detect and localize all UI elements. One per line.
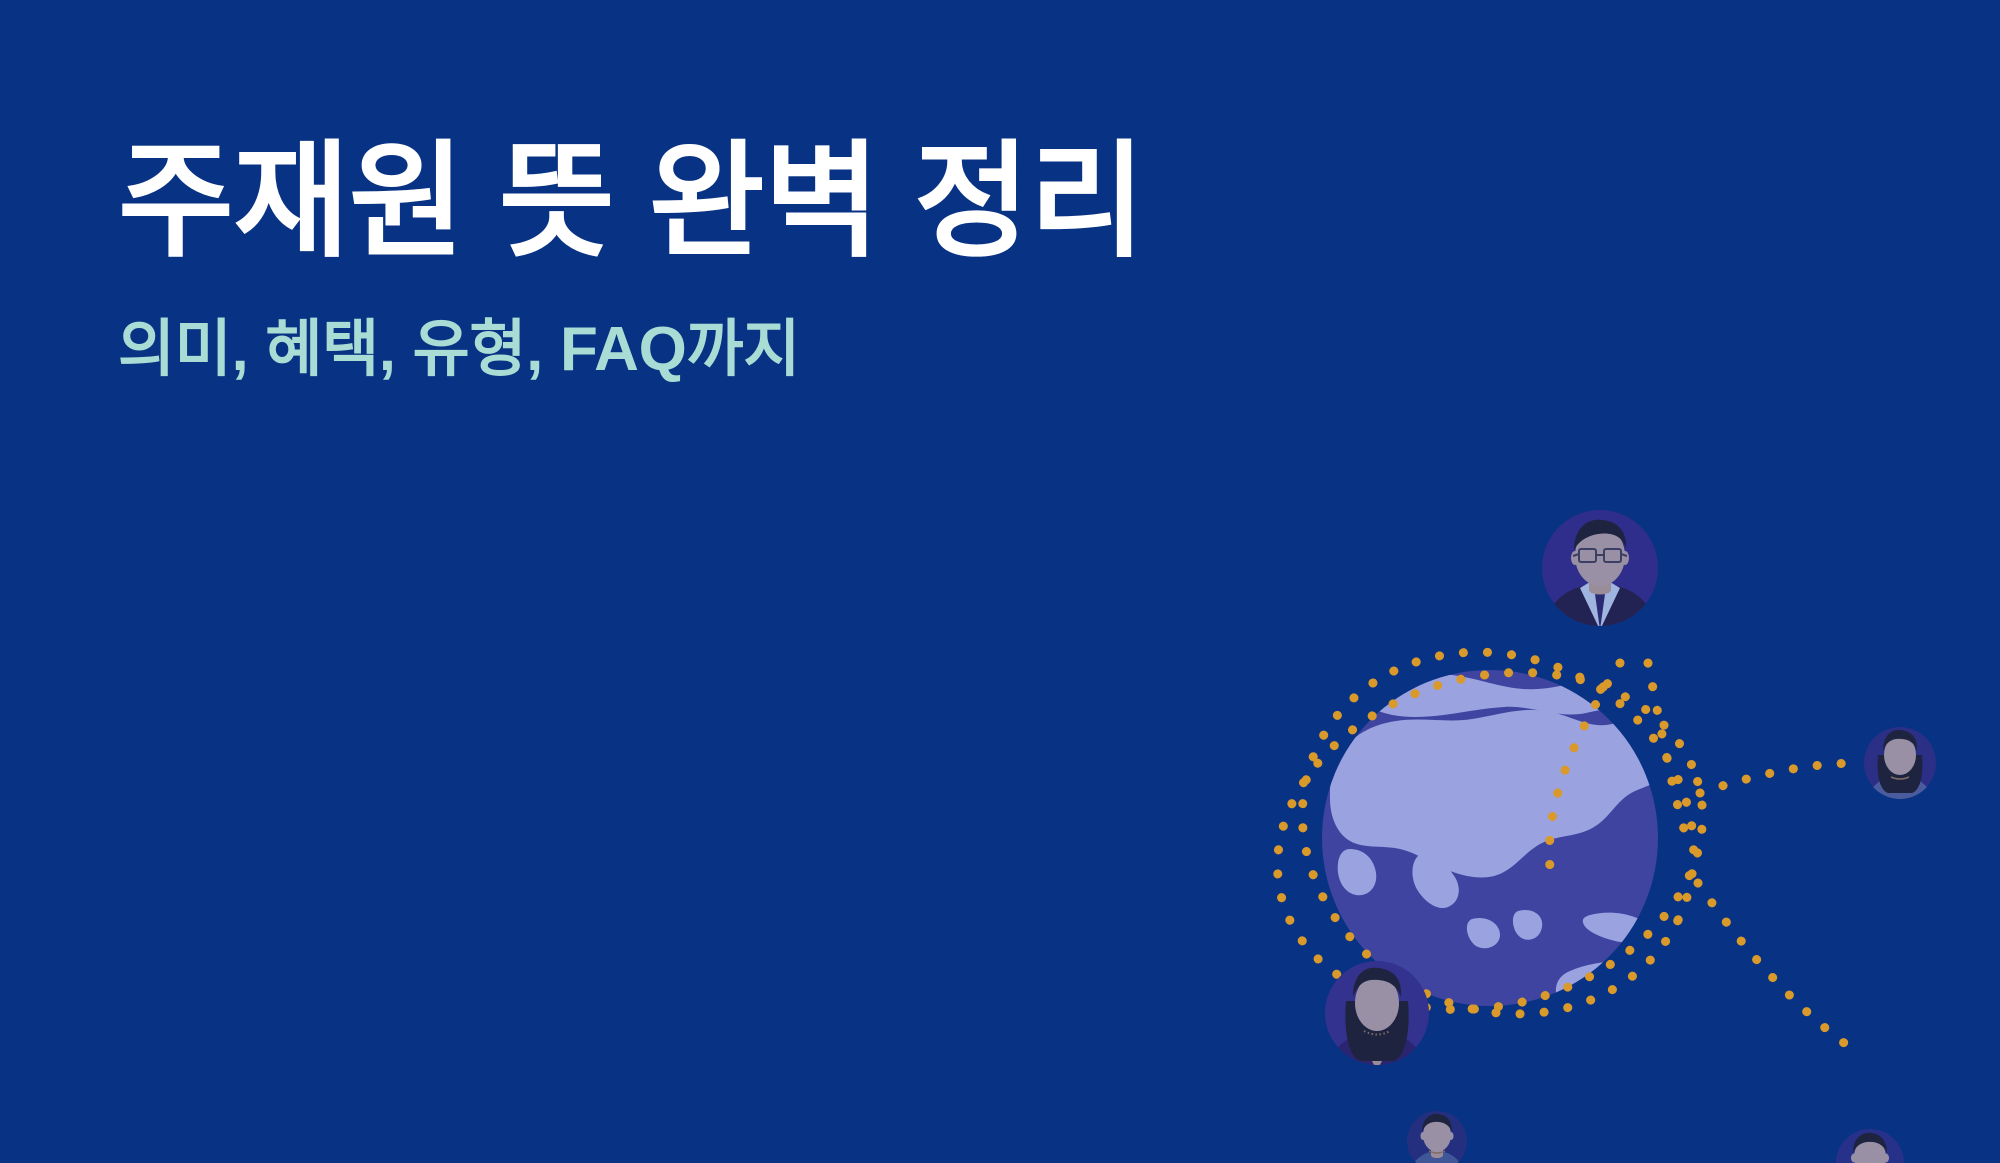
global-network-illustration <box>1100 363 2000 1163</box>
avatar-man-with-glasses <box>1542 510 1658 634</box>
page-title: 주재원 뜻 완벽 정리 <box>118 128 1298 277</box>
avatar-man-bottom-left <box>1407 1111 1467 1163</box>
hero-banner: 주재원 뜻 완벽 정리 의미, 혜택, 유형, FAQ까지 <box>0 0 2000 1163</box>
text-block: 주재원 뜻 완벽 정리 의미, 혜택, 유형, FAQ까지 <box>118 128 1298 388</box>
avatar-man-bottom-right <box>1836 1129 1904 1163</box>
avatar-woman-right-upper <box>1864 727 1936 805</box>
avatar-woman-left <box>1325 961 1429 1073</box>
